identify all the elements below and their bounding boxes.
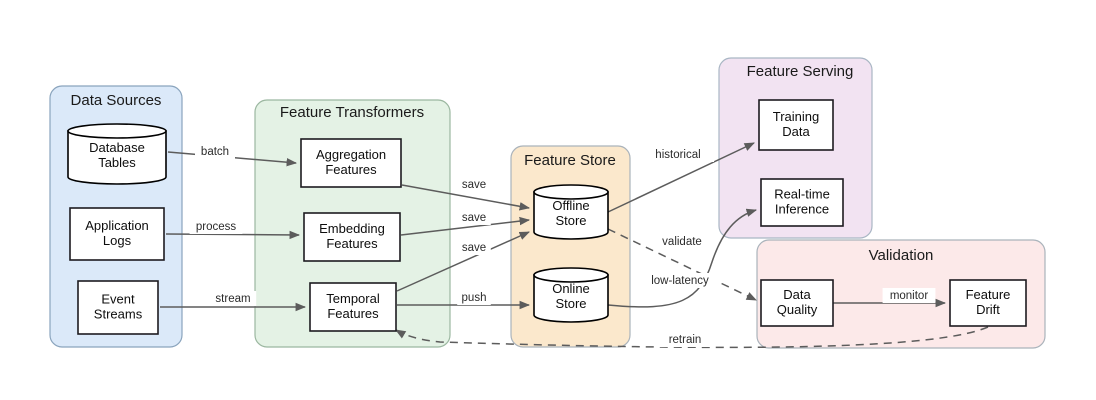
edge-label-save-temporal: save (462, 242, 486, 254)
edge-label-validate: validate (662, 236, 702, 248)
diagram-canvas: Data SourcesFeature TransformersFeature … (0, 0, 1096, 400)
node-event-streams[interactable]: EventStreams (78, 281, 158, 334)
node-label-embedding-features: Embedding (319, 221, 385, 236)
node-online-store[interactable]: OnlineStore (534, 268, 608, 322)
node-feature-drift[interactable]: FeatureDrift (950, 280, 1026, 326)
node-label-online-store: Store (555, 296, 586, 311)
node-label-application-logs: Application (85, 218, 149, 233)
node-label-event-streams: Streams (94, 306, 143, 321)
node-label-data-quality: Quality (777, 302, 818, 317)
node-label-aggregation-features: Features (325, 162, 377, 177)
edge-label-process: process (196, 221, 237, 233)
node-label-temporal-features: Temporal (326, 291, 380, 306)
edge-process (166, 234, 299, 235)
node-label-embedding-features: Features (326, 236, 378, 251)
node-label-online-store: Online (552, 281, 590, 296)
edge-label-retrain: retrain (669, 334, 702, 346)
node-label-temporal-features: Features (327, 306, 379, 321)
node-training-data[interactable]: TrainingData (759, 100, 833, 150)
node-label-aggregation-features: Aggregation (316, 147, 386, 162)
architecture-diagram: Data SourcesFeature TransformersFeature … (0, 0, 1096, 400)
node-label-offline-store: Offline (552, 198, 589, 213)
node-label-training-data: Data (782, 124, 810, 139)
cylinder-top-database-tables (68, 124, 166, 138)
node-realtime-inference[interactable]: Real-timeInference (761, 179, 843, 226)
node-offline-store[interactable]: OfflineStore (534, 185, 608, 239)
node-embedding-features[interactable]: EmbeddingFeatures (304, 213, 400, 261)
node-temporal-features[interactable]: TemporalFeatures (310, 283, 396, 331)
node-application-logs[interactable]: ApplicationLogs (70, 208, 164, 260)
edge-label-monitor: monitor (890, 290, 929, 302)
node-database-tables[interactable]: DatabaseTables (68, 124, 166, 184)
edge-label-low-latency: low-latency (651, 275, 709, 287)
cylinder-top-online-store (534, 268, 608, 282)
group-title-data-sources: Data Sources (71, 92, 162, 109)
node-label-realtime-inference: Real-time (774, 186, 830, 201)
node-label-database-tables: Tables (98, 155, 136, 170)
group-title-validation: Validation (869, 247, 934, 264)
edge-label-historical: historical (655, 149, 700, 161)
node-label-feature-drift: Drift (976, 302, 1000, 317)
edge-label-save-aggregation: save (462, 179, 486, 191)
node-label-offline-store: Store (555, 213, 586, 228)
node-label-application-logs: Logs (103, 233, 132, 248)
node-label-feature-drift: Feature (966, 287, 1011, 302)
node-label-training-data: Training (773, 109, 819, 124)
node-label-event-streams: Event (101, 291, 135, 306)
edge-label-batch: batch (201, 146, 229, 158)
node-label-database-tables: Database (89, 140, 145, 155)
group-title-feature-transformers: Feature Transformers (280, 104, 424, 121)
edge-label-save-embedding: save (462, 212, 486, 224)
edge-label-push: push (462, 292, 487, 304)
cylinder-top-offline-store (534, 185, 608, 199)
node-aggregation-features[interactable]: AggregationFeatures (301, 139, 401, 187)
node-label-data-quality: Data (783, 287, 811, 302)
group-title-feature-serving: Feature Serving (747, 63, 854, 80)
group-title-feature-store: Feature Store (524, 152, 616, 169)
edge-label-stream: stream (215, 293, 250, 305)
node-label-realtime-inference: Inference (775, 201, 829, 216)
node-data-quality[interactable]: DataQuality (761, 280, 833, 326)
